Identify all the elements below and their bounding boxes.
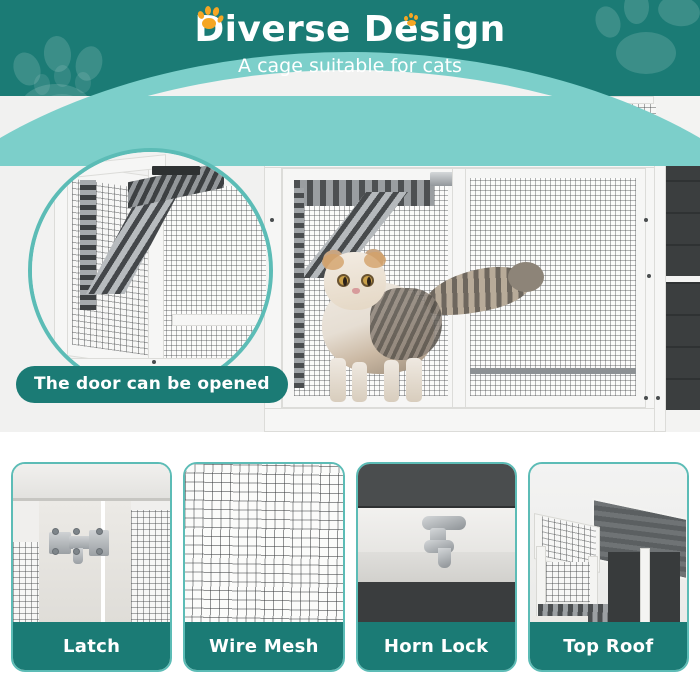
inset-left-post [54, 166, 68, 374]
page-subtitle: A cage suitable for cats [0, 53, 700, 79]
thumbnail-label: Wire Mesh [185, 622, 342, 670]
door-open-inset [28, 148, 273, 393]
cage-upper-rail [290, 140, 656, 147]
cat-head [324, 252, 386, 310]
thumbnail-label: Latch [13, 622, 170, 670]
cat-tail-tip [508, 262, 544, 292]
thumbnail-wire-mesh[interactable]: Wire Mesh [183, 462, 344, 672]
cat-cage-illustration [264, 96, 700, 432]
screw-icon [152, 360, 156, 364]
cat-eye-left [337, 274, 350, 287]
paw-print-small-icon [404, 12, 419, 27]
cat-leg [384, 360, 399, 402]
inset-shelf-edge [152, 166, 200, 175]
thumbnail-label: Horn Lock [358, 622, 515, 670]
screw-icon [656, 144, 660, 148]
cage-side-panel-upper [662, 142, 700, 276]
screw-icon [60, 176, 64, 180]
cage-top-rail [264, 150, 658, 168]
cat-nose [352, 288, 360, 294]
cage-interior-post [294, 188, 304, 388]
screw-icon [647, 274, 651, 278]
cat-marking [322, 254, 344, 270]
feature-thumbnail-row: Latch Wire Mesh [0, 440, 700, 700]
thumbnail-latch[interactable]: Latch [11, 462, 172, 672]
cage-side-post [654, 136, 666, 432]
cage-side-panel-lower [662, 282, 700, 410]
screw-icon [270, 156, 274, 160]
door-open-photo [28, 148, 273, 393]
paw-print-icon [197, 4, 223, 30]
screw-icon [270, 218, 274, 222]
screw-icon [644, 396, 648, 400]
cat-leg [330, 358, 346, 402]
inset-caption-badge: The door can be opened [16, 366, 288, 403]
inset-back-floor [172, 314, 273, 326]
page-title: Diverse Design [0, 8, 700, 52]
thumbnail-horn-lock[interactable]: Horn Lock [356, 462, 517, 672]
cat-marking [364, 252, 386, 268]
thumbnail-label: Top Roof [530, 622, 687, 670]
cat-head-group [320, 250, 390, 316]
product-feature-page: Diverse Design A cage suitable for cats [0, 0, 700, 700]
banner-text-group: Diverse Design A cage suitable for cats [0, 8, 700, 79]
cat-eye-right [361, 274, 374, 287]
screw-icon [644, 218, 648, 222]
cage-bottom-rail [264, 408, 658, 432]
cat-subject [322, 254, 552, 394]
cat-leg [406, 358, 422, 402]
screw-icon [656, 396, 660, 400]
cage-top-edge [264, 96, 654, 104]
cat-leg [352, 362, 367, 402]
thumbnail-top-roof[interactable]: Top Roof [528, 462, 689, 672]
